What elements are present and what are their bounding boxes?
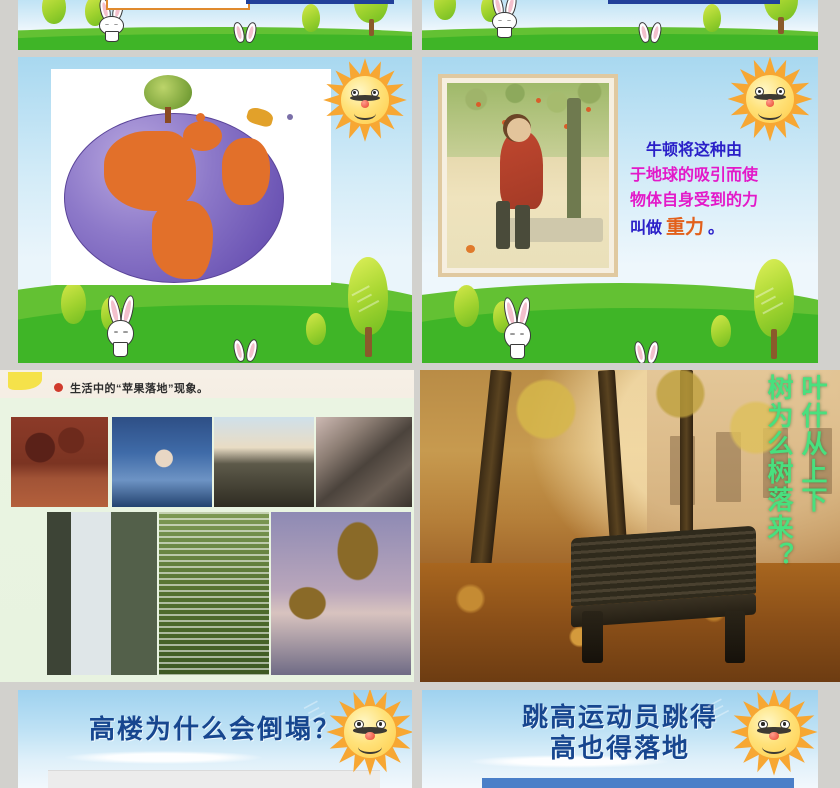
smiling-sun-icon bbox=[332, 67, 398, 133]
sky-grass-scene bbox=[422, 0, 818, 50]
text-line-1: 牛顿将这种由 bbox=[630, 139, 812, 164]
globe-person-icon bbox=[245, 106, 274, 129]
globe-sphere bbox=[64, 113, 284, 283]
white-bunny-icon bbox=[489, 0, 519, 38]
text-span-blue-3: 叫做 bbox=[630, 220, 662, 237]
text-line-4: 叫做重力。 bbox=[630, 213, 812, 242]
text-span-blue-2: 由 bbox=[726, 142, 742, 159]
bush-1 bbox=[454, 285, 479, 327]
question-text-column-left: 树为么树落来？ bbox=[765, 374, 792, 570]
park-bench bbox=[571, 532, 756, 663]
bunny-ears-icon bbox=[231, 339, 261, 363]
earth-globe-artwork bbox=[51, 69, 331, 285]
bunny-ears-icon bbox=[636, 22, 664, 50]
tree-right bbox=[348, 257, 388, 357]
textbook-page: 生活中的“苹果落地”现象。 bbox=[0, 370, 414, 682]
continent-north-america bbox=[104, 131, 196, 212]
sun-face bbox=[341, 76, 389, 124]
banner-label: 重力 bbox=[648, 0, 674, 1]
text-line-2: 于地球的吸引而使 bbox=[630, 164, 812, 189]
tree-right bbox=[754, 259, 794, 359]
photo-parachutes bbox=[271, 512, 411, 675]
banner-label: 落向大地吗？ bbox=[254, 0, 326, 1]
slide-cut-top-left[interactable]: 落向大地吗？ bbox=[18, 0, 412, 50]
continent-greenland bbox=[183, 121, 222, 151]
newton-figure bbox=[500, 131, 542, 209]
smiling-sun-icon bbox=[334, 696, 406, 768]
photo-waterfall bbox=[47, 512, 157, 675]
photo-building-collapse bbox=[214, 417, 314, 507]
painting-canvas bbox=[447, 83, 609, 268]
text-span-magenta-2: 物体自身受到的力 bbox=[630, 192, 758, 209]
tree-right bbox=[354, 0, 388, 36]
hill-front bbox=[422, 34, 818, 51]
gravity-definition-text: 牛顿将这种由 于地球的吸引而使 物体自身受到的力 叫做重力。 bbox=[630, 139, 812, 243]
bush-3 bbox=[302, 4, 320, 32]
globe-ball-icon bbox=[287, 114, 293, 120]
stone-bench bbox=[496, 218, 603, 242]
cut-blue-banner: 重力 bbox=[608, 0, 780, 4]
cut-blue-banner: 落向大地吗？ bbox=[246, 0, 394, 4]
hill-front bbox=[18, 34, 412, 51]
text-span-gravity: 重力 bbox=[662, 217, 708, 238]
text-span-blue-1: 牛顿将这种 bbox=[646, 142, 726, 159]
bush-1 bbox=[61, 282, 86, 324]
tree-right bbox=[764, 0, 798, 34]
photo-rockslide bbox=[316, 417, 412, 507]
text-span-period: 。 bbox=[708, 220, 724, 237]
globe-tree-icon bbox=[144, 75, 192, 123]
slide-textbook-page-apple-falling[interactable]: 生活中的“苹果落地”现象。 bbox=[0, 370, 414, 682]
smiling-sun-icon bbox=[736, 65, 804, 133]
text-line-3: 物体自身受到的力 bbox=[630, 189, 812, 214]
bush-3 bbox=[711, 315, 731, 347]
smiling-sun-icon bbox=[738, 696, 810, 768]
slide-earth-globe[interactable]: 三 bbox=[18, 57, 412, 363]
sun-face bbox=[748, 706, 800, 758]
cloud-streak bbox=[65, 751, 262, 765]
sun-face bbox=[344, 706, 396, 758]
globe-apple-icon bbox=[196, 113, 205, 122]
slide-cut-top-right[interactable]: 重力 bbox=[422, 0, 818, 50]
slide-high-jumper-must-land[interactable]: 跳高运动员跳得 高也得落地 三 bbox=[422, 690, 818, 788]
red-bullet-icon bbox=[54, 383, 63, 392]
content-panel bbox=[482, 778, 794, 788]
white-bunny-icon bbox=[105, 295, 137, 357]
autumn-park-photo: 叶什从上下 树为么树落来？ bbox=[420, 370, 840, 682]
content-panel bbox=[48, 770, 380, 788]
white-bunny-icon bbox=[501, 297, 533, 359]
text-span-magenta-1: 于地球的吸引而使 bbox=[630, 167, 758, 184]
tree-trunk bbox=[567, 98, 582, 231]
bush-3 bbox=[703, 4, 721, 32]
cut-white-box bbox=[106, 0, 250, 10]
photo-high-jumper bbox=[112, 417, 212, 507]
question-text-column-right: 叶什从上下 bbox=[799, 374, 826, 514]
slide-thumbnail-grid: 落向大地吗？ 重力 bbox=[0, 0, 840, 788]
bunny-ears-icon bbox=[231, 22, 259, 50]
photo-autumn-tree bbox=[11, 417, 108, 507]
slide-autumn-bench-question[interactable]: 叶什从上下 树为么树落来？ bbox=[420, 370, 840, 682]
newton-painting bbox=[438, 74, 618, 277]
slide-newton-gravity-definition[interactable]: 三 牛顿将这种由 于 bbox=[422, 57, 818, 363]
textbook-heading: 生活中的“苹果落地”现象。 bbox=[70, 380, 209, 396]
bush-1 bbox=[42, 0, 66, 24]
fallen-apple bbox=[466, 245, 475, 253]
bunny-ears-icon bbox=[632, 341, 662, 363]
continent-south-america bbox=[152, 201, 213, 278]
photo-rainfall bbox=[159, 512, 269, 675]
slide-why-do-tall-buildings-collapse[interactable]: 高楼为什么会倒塌？ 三 bbox=[18, 690, 412, 788]
continent-africa bbox=[222, 138, 270, 205]
bush-1 bbox=[434, 0, 456, 20]
bush-3 bbox=[306, 313, 326, 345]
